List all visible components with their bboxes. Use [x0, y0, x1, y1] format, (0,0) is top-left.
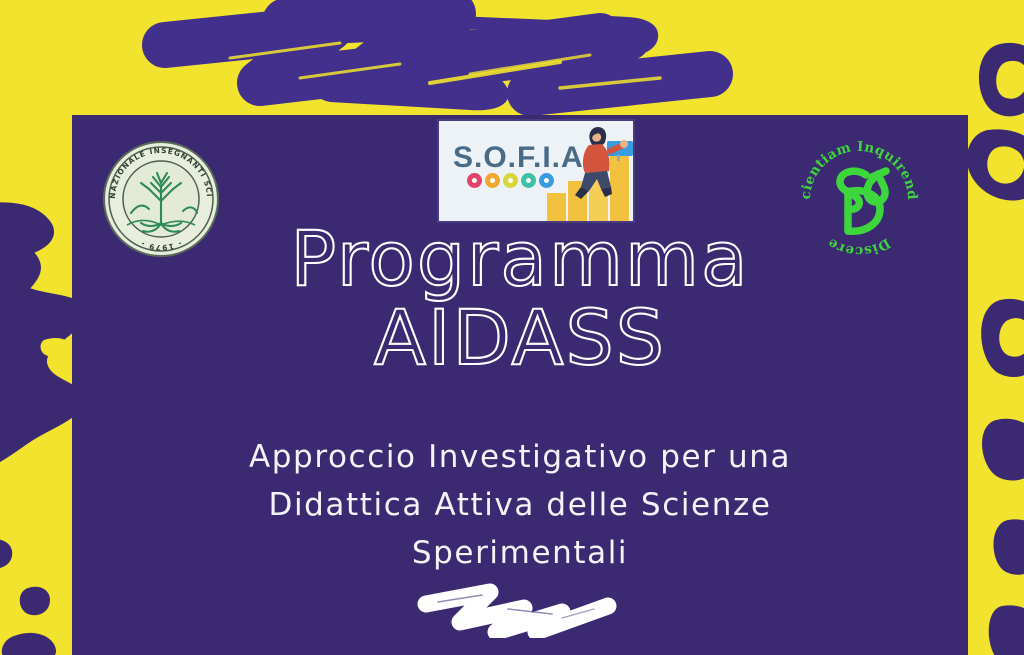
- sofia-illustration-icon: [439, 121, 635, 223]
- right-spots-icon: [967, 43, 1024, 655]
- bottom-left-spots-icon: [0, 539, 56, 655]
- page-title-line2: AIDASS: [72, 302, 968, 375]
- subtitle-line2: Didattica Attiva delle Scienze: [72, 481, 968, 529]
- subtitle-line3: Sperimentali: [72, 529, 968, 577]
- poster-card: ASSOCIAZIONE NAZIONALE INSEGNANTI SCIENZ…: [72, 115, 968, 655]
- sofia-logo: S.O.F.I.A: [437, 119, 635, 223]
- title-block: Programma AIDASS: [72, 223, 968, 375]
- poster-root: ASSOCIAZIONE NAZIONALE INSEGNANTI SCIENZ…: [0, 0, 1024, 655]
- bottom-brush-stroke-icon: [412, 578, 632, 638]
- subtitle-line1: Approccio Investigativo per una: [72, 433, 968, 481]
- subtitle-block: Approccio Investigativo per una Didattic…: [72, 433, 968, 577]
- page-title-line1: Programma: [72, 223, 968, 296]
- top-brush-stroke-icon: [156, 14, 710, 110]
